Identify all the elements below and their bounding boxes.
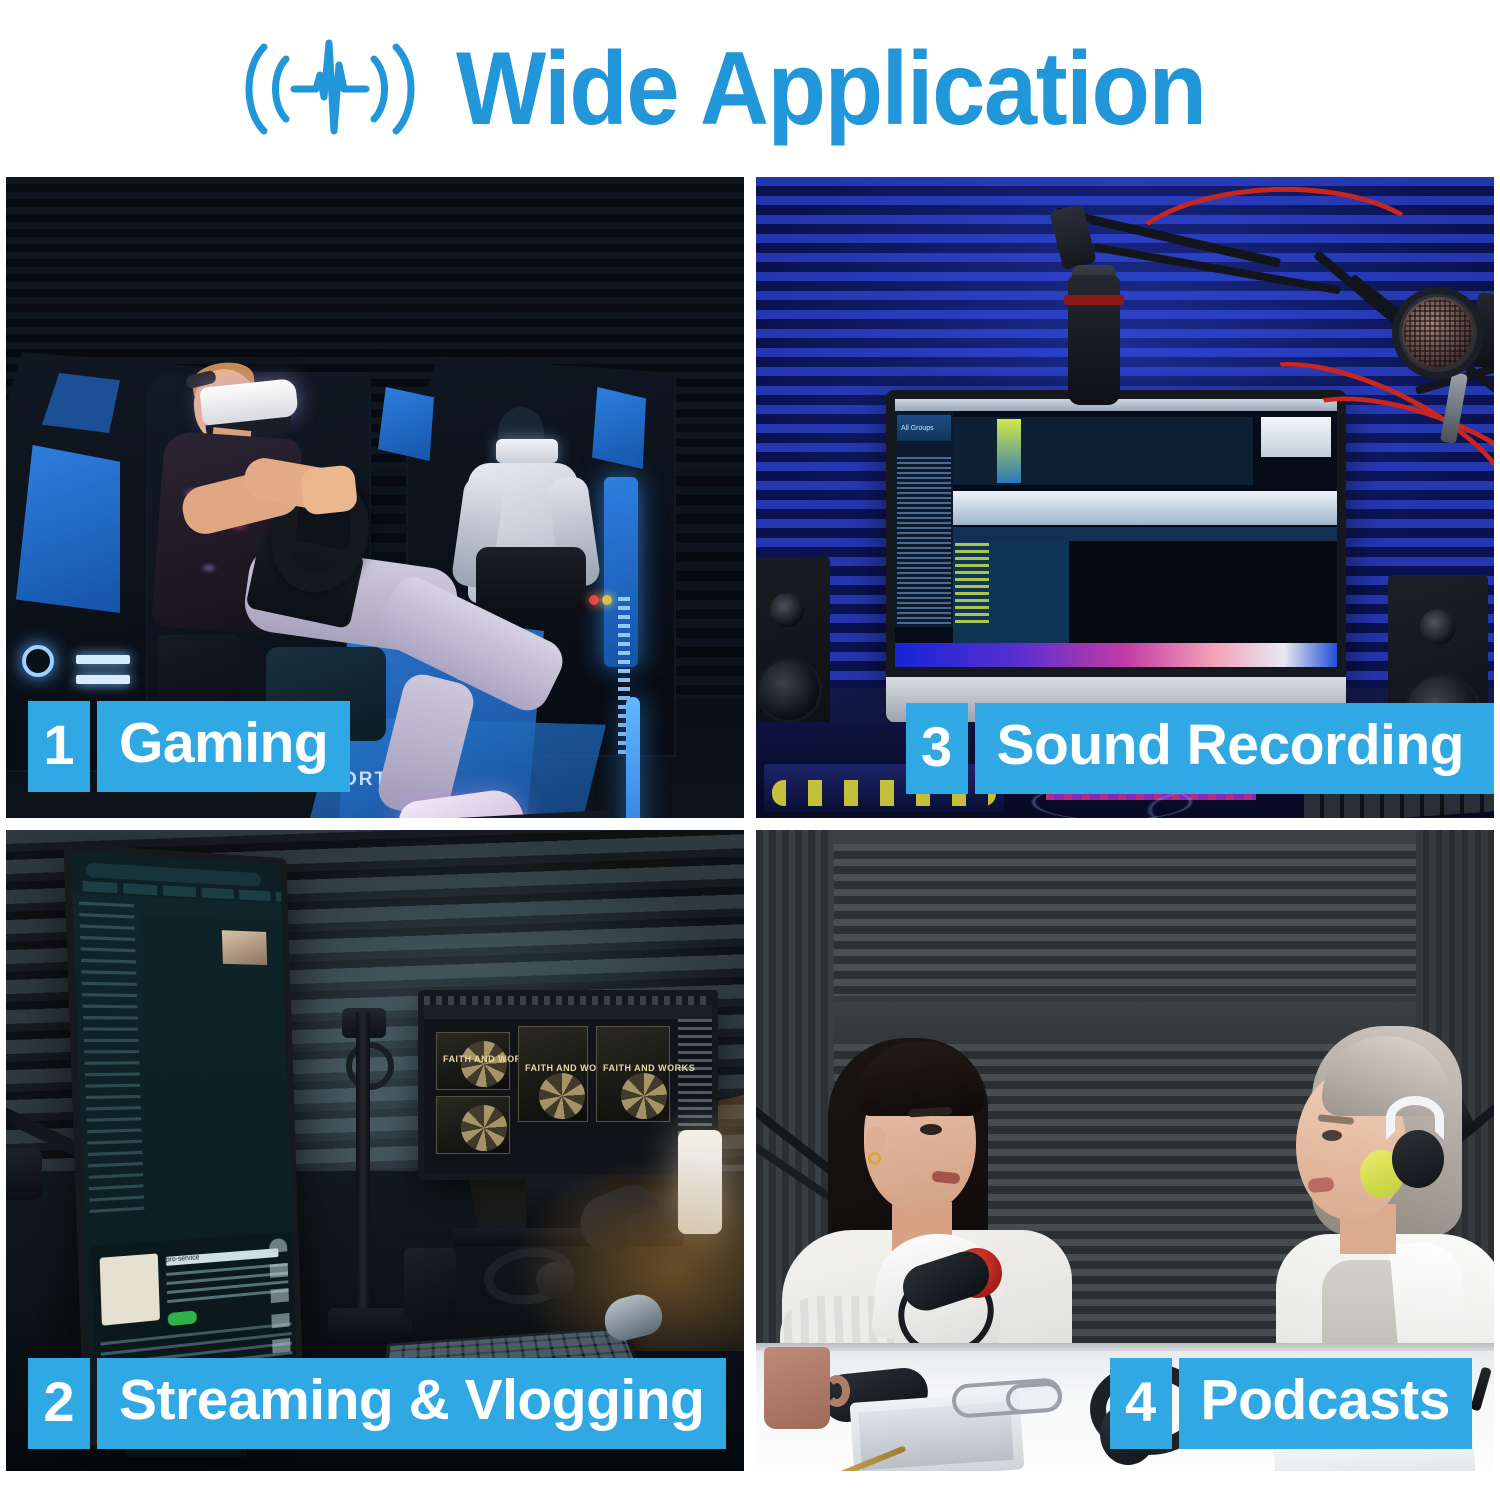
caption-label-podcasts: Podcasts (1179, 1358, 1472, 1449)
vr-headset-player-2 (496, 439, 558, 463)
vr-rig-led-panel-1 (16, 445, 120, 613)
application-grid: TEL ORT 1 Gaming (6, 177, 1494, 1487)
streaming-chat-screen: pro-service (71, 851, 298, 1438)
portrait-monitor: pro-service (63, 843, 304, 1447)
caption-podcasts: 4 Podcasts (1110, 1358, 1472, 1449)
daw-timeline-ruler (953, 527, 1337, 541)
gear-graphic-3 (621, 1073, 667, 1119)
host-left-eye (920, 1124, 942, 1135)
page-header: Wide Application (0, 0, 1500, 177)
vr-rig-led-panel-4 (592, 387, 646, 469)
caption-number-2: 2 (28, 1358, 90, 1449)
sound-wave-icon (230, 35, 430, 143)
vr-rig-cup-holder (158, 635, 240, 701)
caption-gaming: 1 Gaming (28, 701, 350, 792)
caption-label-sound-recording: Sound Recording (975, 703, 1494, 794)
editor-tab-bar (424, 1005, 712, 1019)
chat-sidebar (79, 902, 144, 1213)
daw-browser-header: All Groups (897, 415, 951, 441)
daw-audio-clip (997, 419, 1021, 483)
speaker-woofer-left (756, 657, 822, 723)
panel-podcasts[interactable]: 4 Podcasts (756, 830, 1494, 1471)
vr-rig-led-panel-3 (378, 387, 434, 461)
editor-toolbar (424, 996, 712, 1005)
thumbnail-title-3: FAITH AND WORKS (603, 1063, 695, 1073)
caption-sound-recording: 3 Sound Recording (906, 703, 1494, 794)
gear-graphic-2 (539, 1073, 585, 1119)
ribbon-mic-mesh (1404, 299, 1472, 367)
mic-arm-pole (356, 1012, 370, 1312)
caption-number-1: 1 (28, 701, 90, 792)
coffee-mug-handle (824, 1375, 850, 1407)
video-thumbnail-4 (436, 1096, 510, 1154)
mic-arm-ring (346, 1042, 394, 1090)
daw-transport-toolbar (953, 491, 1337, 525)
chat-main-area (140, 915, 291, 1037)
vr-rig-indicator-amber (602, 595, 612, 605)
chat-user-thumbnail (222, 930, 267, 965)
vr-rig-led-bar-a (76, 655, 130, 664)
panel-gaming[interactable]: TEL ORT 1 Gaming (6, 177, 744, 818)
gear-graphic-4 (461, 1105, 507, 1151)
vr-rig-edge-light (626, 697, 640, 818)
speaker-tweeter-left (770, 593, 804, 627)
caption-streaming-vlogging: 2 Streaming & Vlogging (28, 1358, 726, 1449)
daw-edit-canvas (1071, 541, 1337, 643)
desk-cylinder-accessory (404, 1248, 456, 1320)
host-right-headphone-band (1386, 1096, 1444, 1140)
coffee-mug (764, 1347, 830, 1429)
video-thumbnail-1: FAITH AND WORKS (436, 1032, 510, 1090)
caption-label-streaming-vlogging: Streaming & Vlogging (97, 1358, 726, 1449)
panel-sound-recording[interactable]: All Groups (756, 177, 1494, 818)
page-title: Wide Application (456, 37, 1206, 141)
video-thumbnail-3: FAITH AND WORKS (596, 1026, 670, 1122)
caption-number-3: 3 (906, 703, 968, 794)
host-right-eye (1322, 1130, 1342, 1141)
mic-arm-base (328, 1308, 412, 1344)
screen-color-reflection (895, 643, 1337, 667)
host-left-earring (868, 1152, 881, 1165)
vr-rig-led-bar-b (76, 675, 130, 684)
host-left-ear (866, 1126, 886, 1154)
condenser-mic-accent-ring (1064, 295, 1124, 305)
editing-app-screen: FAITH AND WORKS FAITH AND WORKS FAITH AN… (424, 996, 712, 1174)
video-thumbnail-2: FAITH AND WORKS (518, 1026, 588, 1122)
caption-label-gaming: Gaming (97, 701, 350, 792)
vr-player-2-steering-wheel (476, 547, 586, 617)
speaker-tweeter-right (1420, 609, 1456, 645)
mic-boom-clamp-left (6, 1148, 42, 1200)
vr-rig-ring-light (22, 645, 54, 677)
daw-track-names (955, 543, 989, 623)
vr-rig-indicator-red (589, 595, 599, 605)
eyeglasses-lens-right (1005, 1381, 1063, 1415)
vr-player-1-hands (300, 464, 359, 515)
podcast-foam-divider (834, 1002, 1416, 1042)
chat-avatar-card (100, 1253, 160, 1325)
caption-number-4: 4 (1110, 1358, 1172, 1449)
panel-streaming-vlogging[interactable]: FAITH AND WORKS FAITH AND WORKS FAITH AN… (6, 830, 744, 1471)
daw-browser-list (897, 457, 951, 625)
podcast-foam-upper (834, 844, 1416, 996)
